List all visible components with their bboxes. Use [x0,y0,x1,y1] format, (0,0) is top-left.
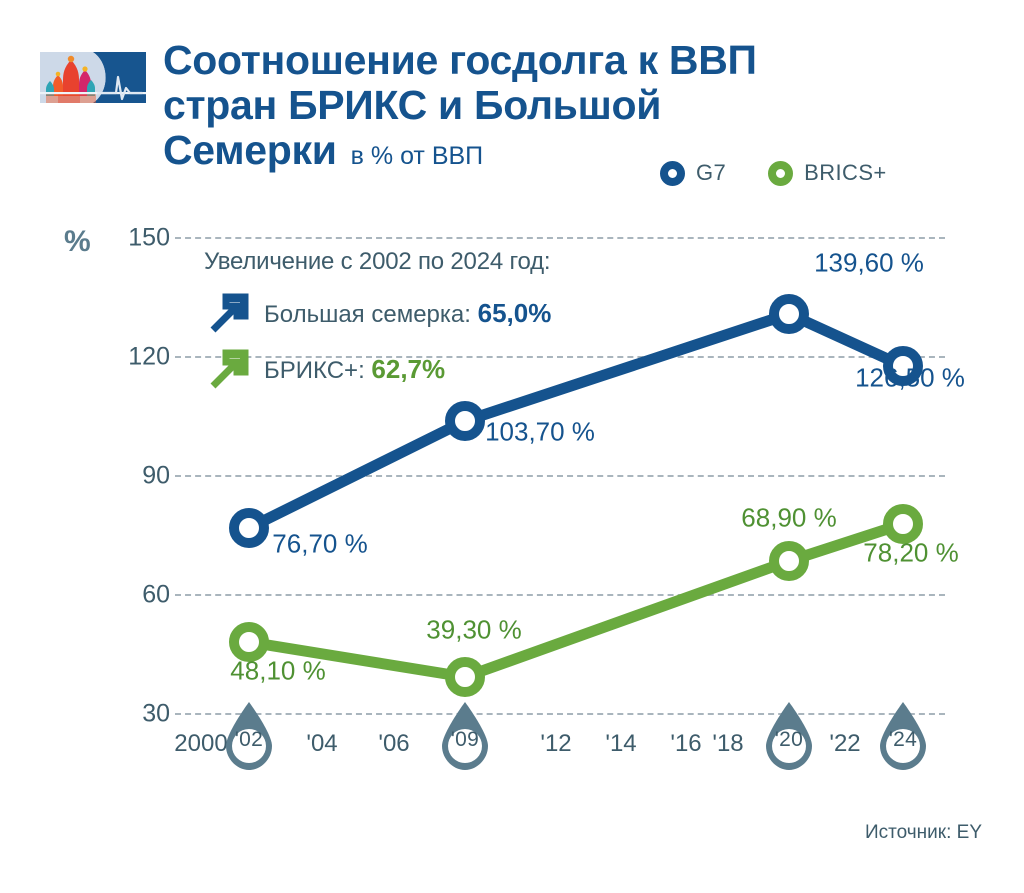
data-label-g7-2002: 76,70 % [272,529,367,560]
x-pin-09[interactable]: '09 [438,700,492,774]
legend: G7 BRICS+ [660,160,887,186]
legend-marker-brics-icon [768,161,793,186]
x-tick-04: '04 [306,730,337,758]
annotation-row-brics: БРИКС+: 62,7% [204,346,624,392]
annotation-value-brics: 62,7% [371,354,445,384]
annotation-value-g7: 65,0% [478,298,552,328]
annotation-label-brics: БРИКС+: [264,357,365,384]
data-label-g7-2024: 126,50 % [855,363,965,394]
annotation-row-g7: Большая семерка: 65,0% [204,290,624,336]
x-pin-label-09: '09 [438,728,492,752]
data-point-brics-2009 [450,662,480,692]
legend-label-g7: G7 [696,160,726,186]
x-pin-20[interactable]: '20 [762,700,816,774]
annotation-text-brics: БРИКС+: 62,7% [264,354,445,385]
x-pin-02[interactable]: '02 [222,700,276,774]
x-tick-2000: 2000 [174,730,227,758]
data-point-brics-2020 [774,546,804,576]
x-pin-label-20: '20 [762,728,816,752]
page-title: Соотношение госдолга к ВВП стран БРИКС и… [163,38,963,173]
data-point-g7-2020 [774,299,804,329]
infographic-page: Соотношение госдолга к ВВП стран БРИКС и… [0,0,1024,893]
data-point-g7-2009 [450,406,480,436]
source-attribution: Источник: EY [865,822,982,844]
st-basils-pulse-logo [38,50,148,105]
data-point-g7-2002 [234,513,264,543]
data-label-g7-2020: 139,60 % [814,248,924,279]
x-tick-22: '22 [829,730,860,758]
title-line-1: Соотношение госдолга к ВВП [163,38,963,83]
title-line-2: стран БРИКС и Большой [163,83,963,128]
annotation-box: Увеличение с 2002 по 2024 год: Большая с… [204,248,624,402]
data-label-brics-2024: 78,20 % [863,538,958,569]
chart-area: % 150 120 90 60 30 [0,210,1024,810]
x-tick-12: '12 [540,730,571,758]
x-pin-label-24: '24 [876,728,930,752]
arrow-up-right-icon [204,290,250,336]
x-axis: 2000 '02 '04 '06 '09 '12 '14 '16 '18 [0,708,1024,808]
title-subtitle: в % от ВВП [351,142,483,171]
data-point-brics-2024 [888,509,918,539]
legend-item-g7[interactable]: G7 [660,160,726,186]
data-label-brics-2020: 68,90 % [741,503,836,534]
x-tick-14: '14 [605,730,636,758]
x-tick-06: '06 [378,730,409,758]
data-label-brics-2009: 39,30 % [426,615,521,646]
legend-label-brics: BRICS+ [804,160,886,186]
x-pin-24[interactable]: '24 [876,700,930,774]
legend-item-brics[interactable]: BRICS+ [768,160,886,186]
data-label-brics-2002: 48,10 % [230,656,325,687]
title-line-3: Семерки [163,128,337,173]
x-tick-18: '18 [712,730,743,758]
data-point-brics-2002 [234,627,264,657]
annotation-text-g7: Большая семерка: 65,0% [264,298,551,329]
arrow-up-right-icon [204,346,250,392]
annotation-heading: Увеличение с 2002 по 2024 год: [204,248,624,276]
annotation-label-g7: Большая семерка: [264,301,471,328]
header: Соотношение госдолга к ВВП стран БРИКС и… [0,0,1024,210]
x-tick-16: '16 [670,730,701,758]
data-label-g7-2009: 103,70 % [485,417,595,448]
x-pin-label-02: '02 [222,728,276,752]
legend-marker-g7-icon [660,161,685,186]
